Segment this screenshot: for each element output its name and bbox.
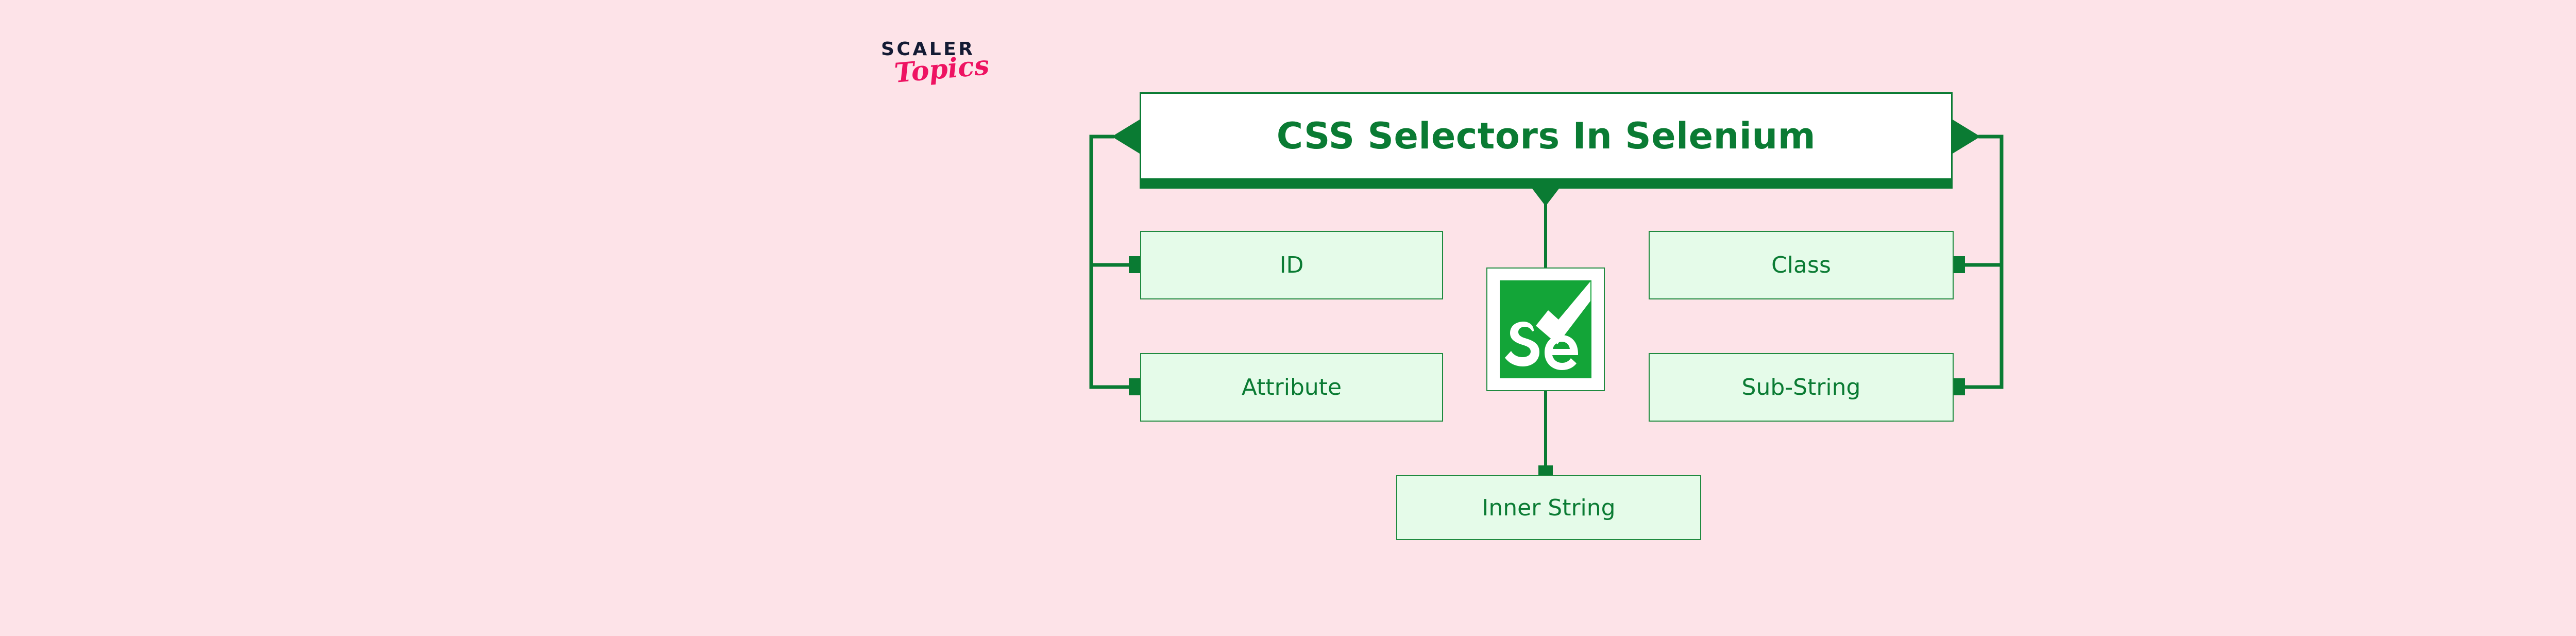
page-title: CSS Selectors In Selenium [1277, 115, 1816, 157]
node-substring-label: Sub-String [1742, 374, 1861, 400]
node-class[interactable]: Class [1649, 231, 1954, 299]
node-class-label: Class [1771, 252, 1831, 278]
title-underbar [1140, 180, 1953, 189]
node-id-label: ID [1280, 252, 1304, 278]
node-id[interactable]: ID [1140, 231, 1443, 299]
diagram-canvas: SCALER Topics CSS Selectors In Selenium [0, 0, 2576, 636]
scaler-topics-logo: SCALER Topics [876, 40, 1041, 133]
title-right-arrow [1953, 120, 1980, 154]
selenium-logo-card [1486, 267, 1605, 391]
node-inner-string-label: Inner String [1482, 495, 1615, 521]
node-attribute[interactable]: Attribute [1140, 353, 1443, 422]
node-attribute-label: Attribute [1242, 374, 1342, 400]
diagram-title-box: CSS Selectors In Selenium [1140, 92, 1953, 180]
title-down-arrow [1532, 189, 1559, 206]
node-substring[interactable]: Sub-String [1649, 353, 1954, 422]
node-inner-string[interactable]: Inner String [1396, 475, 1701, 540]
title-left-arrow [1112, 120, 1140, 154]
selenium-logo-icon [1500, 280, 1591, 378]
